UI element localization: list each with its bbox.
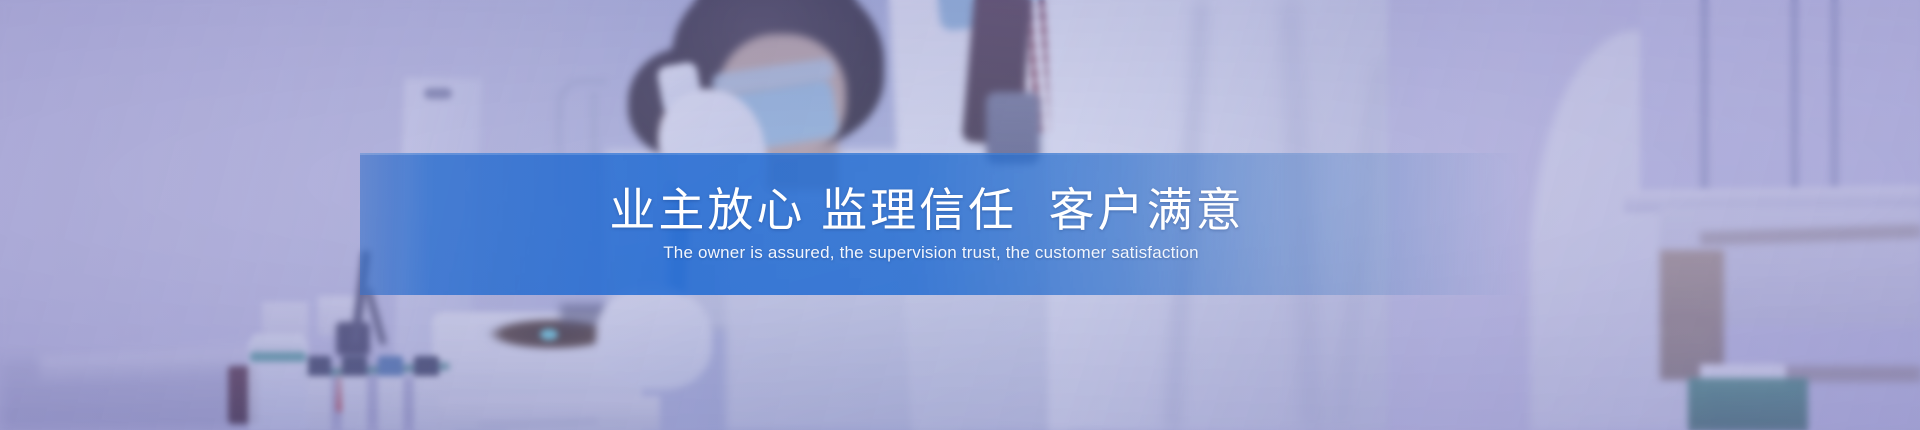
hero-banner: 业主放心 监理信任 客户满意 The owner is assured, the… [0,0,1920,430]
banner-subheadline: The owner is assured, the supervision tr… [663,243,1217,263]
banner-headline: 业主放心 监理信任 客户满意 [609,185,1270,237]
caption-block: 业主放心 监理信任 客户满意 The owner is assured, the… [360,153,1520,295]
